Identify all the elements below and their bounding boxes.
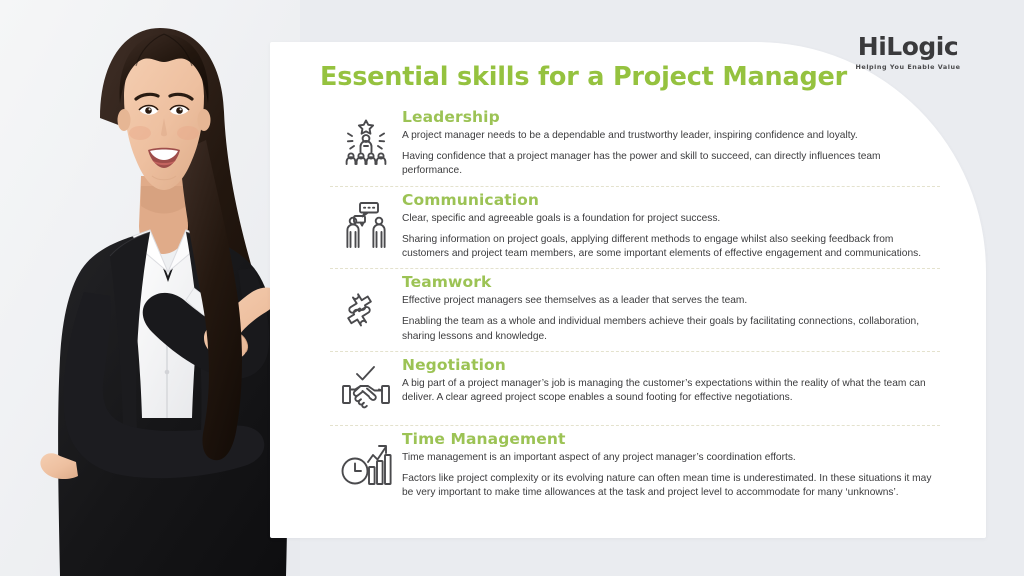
skill-paragraph: Time management is an important aspect o… [402,451,936,465]
skill-item-time-management: Time Management Time management is an im… [330,425,940,508]
skill-paragraph: A big part of a project manager’s job is… [402,377,936,405]
skill-body: Leadership A project manager needs to be… [402,108,940,179]
skill-item-teamwork: Teamwork Effective project managers see … [330,268,940,351]
skill-paragraph: Sharing information on project goals, ap… [402,233,936,261]
skill-paragraph: Factors like project complexity or its e… [402,472,936,500]
skill-body: Time Management Time management is an im… [402,430,940,501]
communication-icon [330,191,402,253]
skill-title: Teamwork [402,273,936,291]
skill-body: Communication Clear, specific and agreea… [402,191,940,262]
skill-body: Negotiation A big part of a project mana… [402,356,940,405]
time-management-icon [330,430,402,492]
skill-title: Time Management [402,430,936,448]
skill-paragraph: Enabling the team as a whole and individ… [402,315,936,343]
page-title: Essential skills for a Project Manager [320,62,847,92]
skill-title: Communication [402,191,936,209]
skill-item-leadership: Leadership A project manager needs to be… [330,104,940,186]
brand-logo[interactable]: HiLogic Helping You Enable Value [828,34,988,71]
logo-wordmark: HiLogic [828,34,988,59]
skill-body: Teamwork Effective project managers see … [402,273,940,344]
skill-title: Negotiation [402,356,936,374]
skill-paragraph: Having confidence that a project manager… [402,150,936,178]
leadership-icon [330,108,402,170]
skill-paragraph: Clear, specific and agreeable goals is a… [402,212,936,226]
skill-paragraph: A project manager needs to be a dependab… [402,129,936,143]
logo-tagline: Helping You Enable Value [828,63,988,71]
skills-list: Leadership A project manager needs to be… [330,104,940,507]
skill-item-communication: Communication Clear, specific and agreea… [330,186,940,269]
presenter-photo [0,0,300,576]
skill-title: Leadership [402,108,936,126]
skill-item-negotiation: Negotiation A big part of a project mana… [330,351,940,425]
teamwork-icon [330,273,402,335]
negotiation-icon [330,356,402,418]
slide-canvas: HiLogic Helping You Enable Value Essenti… [0,0,1024,576]
skill-paragraph: Effective project managers see themselve… [402,294,936,308]
